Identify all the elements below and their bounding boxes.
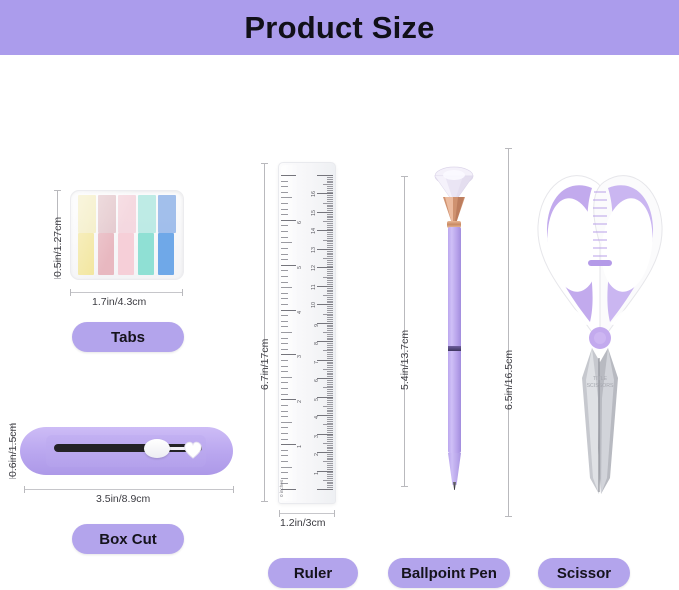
label-pill-ballpoint-pen-text: Ballpoint Pen — [401, 565, 497, 582]
svg-text:SCISSORS: SCISSORS — [587, 383, 614, 389]
tab-strip-2 — [98, 195, 116, 275]
tabs-height-cap-top — [54, 190, 61, 191]
boxcut-width-label: 3.5in/8.9cm — [96, 493, 150, 505]
label-pill-ruler-text: Ruler — [294, 565, 332, 582]
scissor-height-cap-top — [505, 148, 512, 149]
pen-cone — [448, 453, 461, 485]
pen-height-label: 5.4in/13.7cm — [399, 330, 411, 390]
svg-text:TITLE: TITLE — [593, 376, 608, 382]
ruler-width-line — [279, 513, 334, 514]
ruler-illustration: 12345612345678910111213141516 0 inches — [278, 162, 336, 504]
tab-strip-1 — [78, 195, 96, 275]
ruler-brand-text — [329, 189, 335, 190]
ruler-height-line — [264, 163, 265, 501]
tabs-width-cap-right — [182, 289, 183, 296]
ruler-width-cap-right — [334, 510, 335, 517]
label-pill-tabs[interactable]: Tabs — [72, 322, 184, 352]
scissor-height-label: 6.5in/16.5cm — [503, 350, 515, 410]
label-pill-scissor[interactable]: Scissor — [538, 558, 630, 588]
product-size-infographic: Product Size 0.5in/1.27cm 1.7in/4.3cm — [0, 0, 679, 590]
label-pill-tabs-text: Tabs — [111, 329, 145, 346]
header-band: Product Size — [0, 0, 679, 55]
page-title: Product Size — [0, 0, 679, 55]
pen-height-cap-top — [401, 176, 408, 177]
ruler-width-label: 1.2in/3cm — [280, 517, 326, 529]
scissor-illustration: TITLE SCISSORS — [530, 148, 670, 516]
tab-strip-5 — [158, 195, 176, 275]
tabs-height-label: 0.5in/1.27cm — [52, 217, 64, 277]
tab-strip-4 — [138, 195, 156, 275]
tabs-strips — [76, 195, 178, 275]
pen-tip — [453, 482, 456, 490]
box-cutter-slider — [144, 439, 170, 458]
tabs-height-cap-bottom — [54, 278, 61, 279]
pen-height-cap-bottom — [401, 486, 408, 487]
box-cutter-illustration — [20, 423, 233, 479]
scissor-height-cap-bottom — [505, 516, 512, 517]
ruler-height-label: 6.7in/17cm — [259, 339, 271, 390]
scissor-height-line — [508, 148, 509, 516]
pen-accent-band — [448, 346, 461, 351]
tabs-width-label: 1.7in/4.3cm — [92, 296, 146, 308]
boxcut-width-line — [24, 489, 233, 490]
ruler-width-cap-left — [279, 510, 280, 517]
tabs-width-line — [70, 292, 182, 293]
rose-gold-setting — [442, 196, 466, 222]
label-pill-ballpoint-pen[interactable]: Ballpoint Pen — [388, 558, 510, 588]
scissor-graphic: TITLE SCISSORS — [530, 148, 670, 516]
ruler-zero-label: 0 inches — [279, 480, 284, 497]
ruler-height-cap-top — [261, 163, 268, 164]
ruler-height-cap-bottom — [261, 501, 268, 502]
pen-illustration — [434, 166, 474, 486]
label-pill-box-cut-text: Box Cut — [99, 531, 157, 548]
tab-strip-3 — [118, 195, 136, 275]
tabs-width-cap-left — [70, 289, 71, 296]
heart-icon — [182, 439, 204, 459]
pen-barrel — [448, 227, 461, 453]
tabs-case — [70, 190, 184, 280]
boxcut-height-cap-bottom — [9, 478, 16, 479]
boxcut-width-cap-right — [233, 486, 234, 493]
label-pill-ruler[interactable]: Ruler — [268, 558, 358, 588]
label-pill-scissor-text: Scissor — [557, 565, 611, 582]
label-pill-box-cut[interactable]: Box Cut — [72, 524, 184, 554]
boxcut-height-label: 0.6in/1.5cm — [7, 423, 19, 477]
boxcut-width-cap-left — [24, 486, 25, 493]
